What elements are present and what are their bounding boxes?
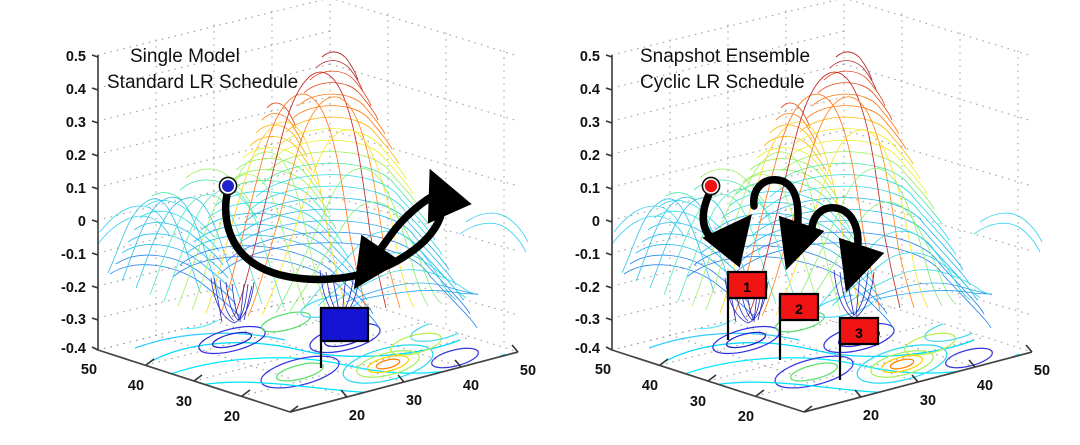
x-tick: 40 <box>642 378 658 394</box>
plot-panel-single-model: 0.5 0.4 0.3 0.2 0.1 0 -0.1 -0.2 -0.3 -0.… <box>0 0 540 445</box>
panel-title-line1: Single Model <box>130 46 240 67</box>
z-tick: -0.4 <box>575 341 600 357</box>
y-tick: 20 <box>349 408 365 424</box>
z-tick: -0.2 <box>61 280 86 296</box>
z-tick: -0.4 <box>61 341 86 357</box>
solution-flag <box>321 308 368 368</box>
z-tick: -0.1 <box>61 247 86 263</box>
z-tick: 0.2 <box>66 148 86 164</box>
panel-title-line2: Cyclic LR Schedule <box>640 72 805 93</box>
z-tick: 0.2 <box>580 148 600 164</box>
z-tick: 0 <box>78 214 86 230</box>
z-tick: 0.4 <box>580 82 600 98</box>
x-tick: 20 <box>738 409 754 425</box>
x-tick: 30 <box>690 394 706 410</box>
z-tick: -0.3 <box>61 312 86 328</box>
z-tick: 0.3 <box>66 115 86 131</box>
z-tick: 0.5 <box>66 49 86 65</box>
contour-plot <box>649 290 1019 394</box>
cyclic-arrow-2 <box>754 180 798 246</box>
x-axis-tick-labels: 50 40 30 20 <box>81 362 240 425</box>
z-tick: -0.2 <box>575 280 600 296</box>
panel-title-line1: Snapshot Ensemble <box>640 46 810 67</box>
plot-panel-snapshot-ensemble: 0.5 0.4 0.3 0.2 0.1 0 -0.1 -0.2 -0.3 -0.… <box>540 0 1080 445</box>
flag-number: 3 <box>855 325 863 341</box>
snapshot-flag-3: 3 <box>840 318 878 380</box>
y-tick: 30 <box>920 393 936 409</box>
y-tick: 40 <box>977 378 993 394</box>
z-tick: -0.3 <box>575 312 600 328</box>
y-tick: 20 <box>863 408 879 424</box>
flag-number: 1 <box>743 279 751 295</box>
y-tick: 40 <box>463 378 479 394</box>
z-axis-tick-labels: 0.5 0.4 0.3 0.2 0.1 0 -0.1 -0.2 -0.3 -0.… <box>575 49 600 357</box>
y-tick: 50 <box>520 363 536 379</box>
z-tick: 0.1 <box>580 181 600 197</box>
start-point-marker <box>219 177 236 194</box>
panel-title-line2: Standard LR Schedule <box>107 72 298 93</box>
loss-surface-mesh <box>98 52 528 328</box>
x-tick: 20 <box>224 409 240 425</box>
flag-number: 2 <box>795 301 803 317</box>
x-tick: 50 <box>595 362 611 378</box>
y-tick: 30 <box>406 393 422 409</box>
z-tick: 0.5 <box>580 49 600 65</box>
axis-lines <box>98 55 518 412</box>
z-tick: 0 <box>592 214 600 230</box>
z-tick: 0.3 <box>580 115 600 131</box>
x-axis-tick-labels: 50 40 30 20 <box>595 362 754 425</box>
axis-lines <box>612 55 1032 412</box>
figure-canvas: 0.5 0.4 0.3 0.2 0.1 0 -0.1 -0.2 -0.3 -0.… <box>0 0 1080 445</box>
z-tick: 0.4 <box>66 82 86 98</box>
snapshot-flag-1: 1 <box>728 272 766 340</box>
z-tick: 0.1 <box>66 181 86 197</box>
y-tick: 50 <box>1034 363 1050 379</box>
z-axis-tick-labels: 0.5 0.4 0.3 0.2 0.1 0 -0.1 -0.2 -0.3 -0.… <box>61 49 86 357</box>
x-tick: 50 <box>81 362 97 378</box>
x-tick: 30 <box>176 394 192 410</box>
x-tick: 40 <box>128 378 144 394</box>
loss-surface-mesh <box>612 52 1042 328</box>
start-point-marker <box>702 177 719 194</box>
z-tick: -0.1 <box>575 247 600 263</box>
